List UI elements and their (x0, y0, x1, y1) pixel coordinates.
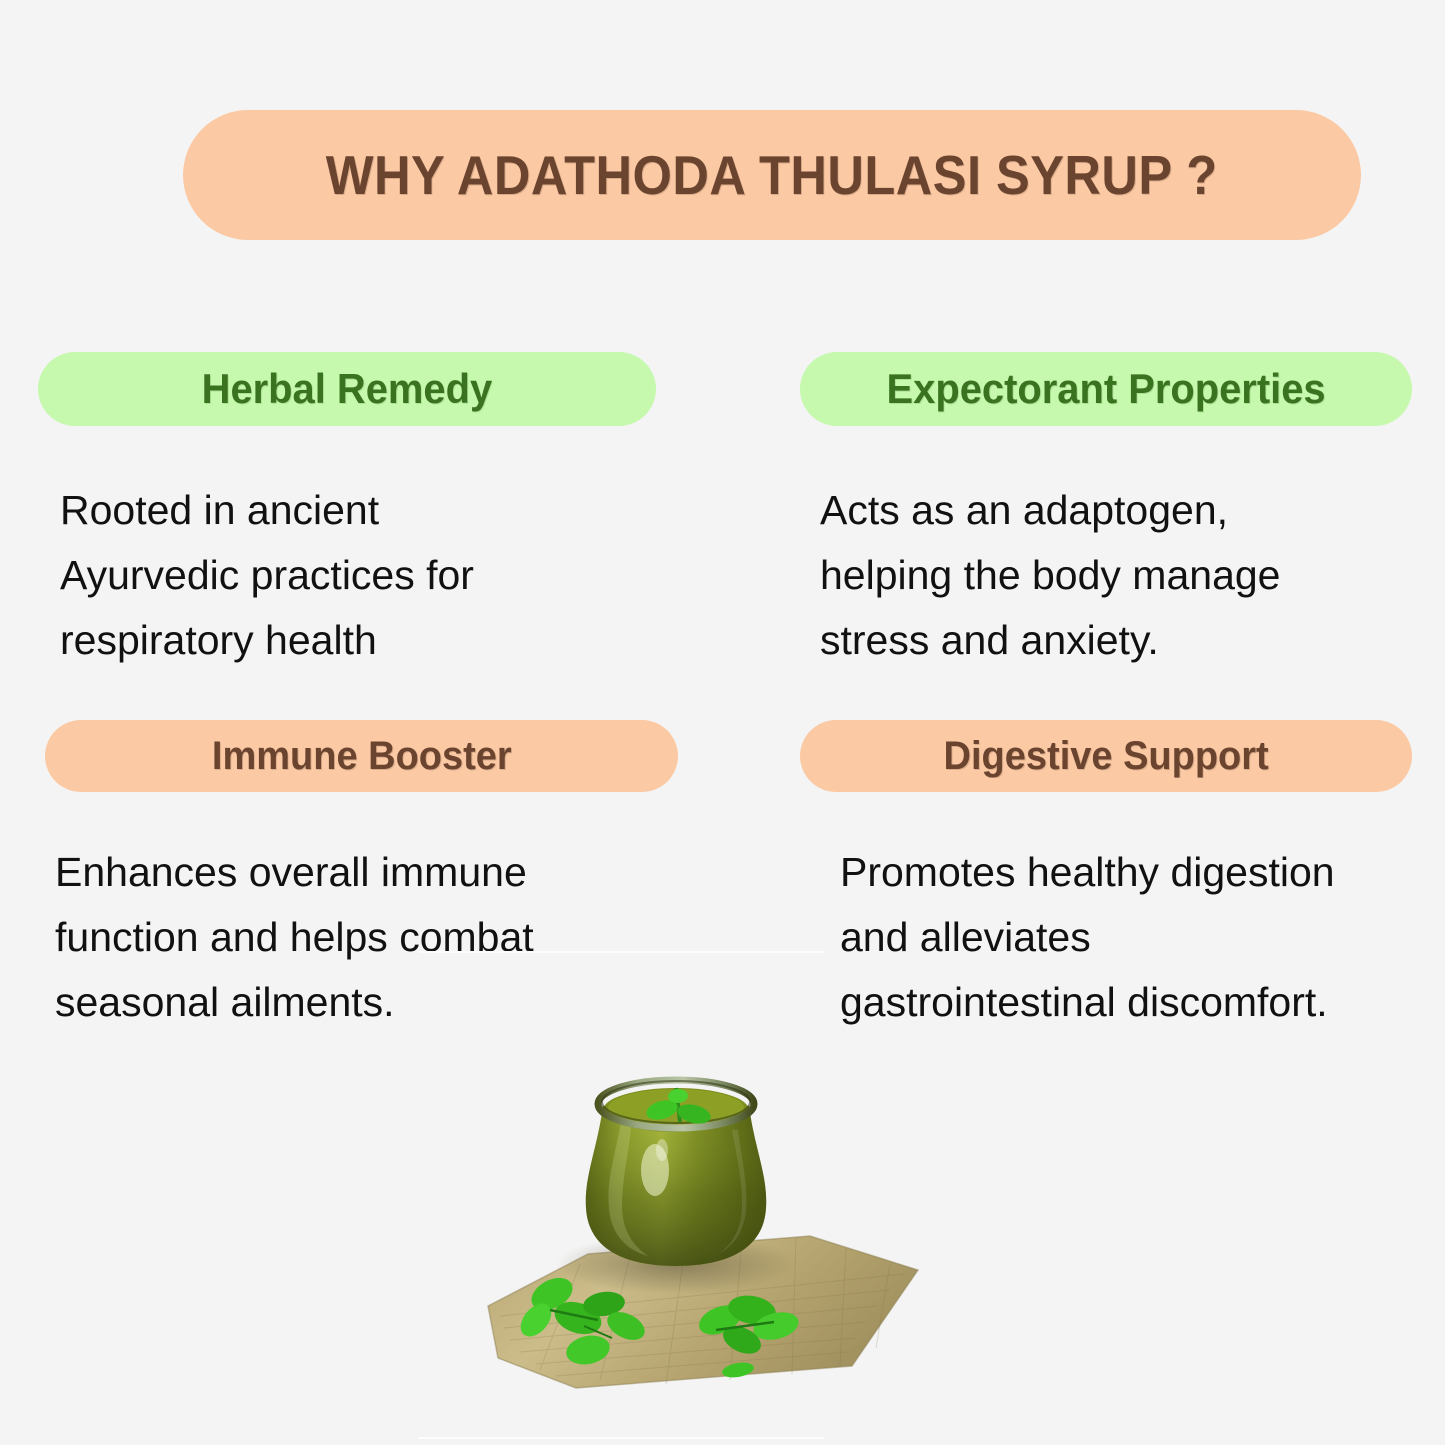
scan-artifact-box (418, 1437, 824, 1439)
feature-pill-digestive-support: Digestive Support (800, 720, 1412, 792)
feature-pill-immune-booster: Immune Booster (45, 720, 678, 792)
scan-artifact-line (418, 951, 824, 953)
feature-description-herbal-remedy: Rooted in ancient Ayurvedic practices fo… (60, 478, 620, 673)
feature-description-digestive-support: Promotes healthy digestion and alleviate… (840, 840, 1410, 1035)
feature-pill-herbal-remedy: Herbal Remedy (38, 352, 656, 426)
feature-label-immune-booster: Immune Booster (212, 734, 512, 779)
feature-description-immune-booster: Enhances overall immune function and hel… (55, 840, 625, 1035)
feature-description-expectorant-properties: Acts as an adaptogen, helping the body m… (820, 478, 1380, 673)
feature-label-expectorant-properties: Expectorant Properties (886, 365, 1325, 413)
infographic-canvas: WHY ADATHODA THULASI SYRUP ? Herbal Reme… (0, 0, 1445, 1445)
syrup-jar-photo (480, 1058, 926, 1418)
feature-label-herbal-remedy: Herbal Remedy (202, 365, 493, 413)
feature-label-digestive-support: Digestive Support (943, 734, 1268, 779)
page-title: WHY ADATHODA THULASI SYRUP ? (326, 143, 1218, 207)
page-title-banner: WHY ADATHODA THULASI SYRUP ? (183, 110, 1361, 240)
feature-pill-expectorant-properties: Expectorant Properties (800, 352, 1412, 426)
